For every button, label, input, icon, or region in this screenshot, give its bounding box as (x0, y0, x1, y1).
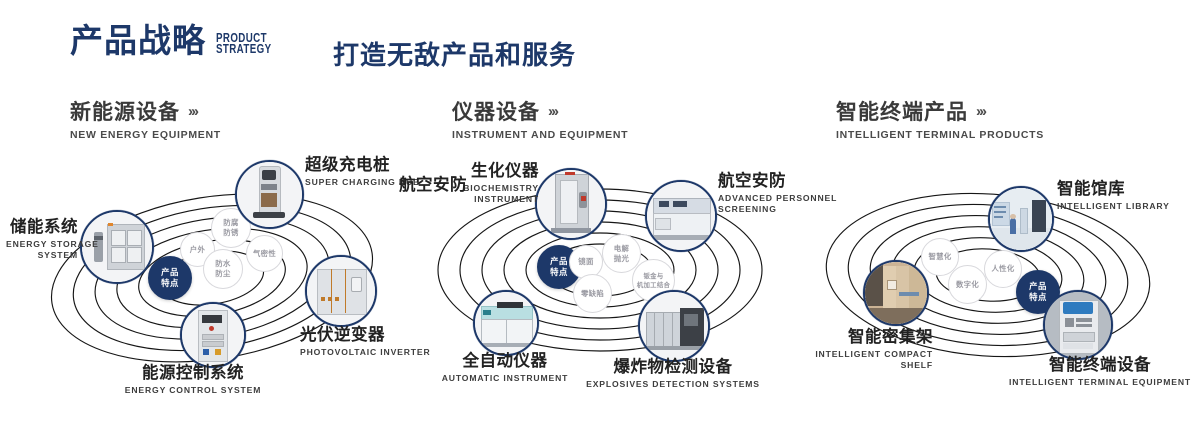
feature-bubble: 防水防尘 (203, 249, 243, 289)
node-label-cn: 航空安防 (389, 176, 467, 195)
node-label-energy-control-system: 能源控制系统 ENERGY CONTROL SYSTEM (78, 364, 308, 396)
section-title-new-energy: 新能源设备 ››› NEW ENERGY EQUIPMENT (70, 96, 221, 141)
node-label-biochemistry-instrument: 生化仪器 BIOCHEMISTRYINSTRUMENT (457, 162, 539, 204)
biochemistry-instrument-icon (537, 170, 605, 238)
inverter-cabinet-icon (307, 257, 375, 325)
page-title-en: PRODUCT STRATEGY (216, 33, 271, 55)
terminal-kiosk-icon (1045, 292, 1111, 358)
core-badge-line1: 产品 (161, 267, 179, 277)
node-intelligent-library[interactable] (988, 186, 1054, 252)
core-badge-line2: 特点 (550, 267, 568, 277)
compact-shelf-icon (865, 262, 927, 324)
node-photovoltaic-inverter[interactable] (305, 255, 377, 327)
node-automatic-instrument[interactable] (473, 290, 539, 356)
feature-label: 人性化 (991, 264, 1014, 274)
node-biochemistry-instrument[interactable] (535, 168, 607, 240)
node-label-aviation-security-left: 航空安防 (389, 176, 467, 195)
feature-label: 数字化 (956, 280, 979, 290)
section-title-cn: 智能终端产品 (836, 96, 968, 126)
node-label-cn: 储能系统 (6, 218, 78, 237)
control-cabinet-icon (182, 304, 244, 366)
node-super-charging-hub[interactable] (235, 160, 304, 229)
node-energy-control-system[interactable] (180, 302, 246, 368)
feature-bubble: 人性化 (984, 250, 1022, 288)
feature-label: 户外 (190, 245, 205, 255)
page-title-cn: 产品战略 (70, 24, 206, 57)
core-badge-line2: 特点 (161, 278, 179, 288)
feature-label: 智慧化 (928, 252, 951, 262)
page-title-en-line2: STRATEGY (216, 44, 271, 55)
node-label-cn: 智能终端设备 (1000, 356, 1200, 375)
feature-label: 镜面 (578, 257, 593, 267)
feature-label: 气密性 (253, 249, 276, 259)
node-label-en: EXPLOSIVES DETECTION SYSTEMS (575, 379, 771, 390)
node-label-en: INTELLIGENT COMPACTSHELF (755, 349, 933, 370)
feature-bubble: 零缺陷 (573, 274, 612, 313)
feature-bubble: 数字化 (948, 265, 987, 304)
section-title-cn: 仪器设备 (452, 96, 540, 126)
core-badge-line1: 产品 (550, 256, 568, 266)
page-title: 产品战略 PRODUCT STRATEGY (70, 24, 287, 57)
chevron-right-icon: ››› (548, 103, 557, 120)
section-title-en: INSTRUMENT AND EQUIPMENT (452, 129, 628, 141)
node-label-cn: 能源控制系统 (78, 364, 308, 383)
section-title-en: NEW ENERGY EQUIPMENT (70, 129, 221, 141)
section-title-en: INTELLIGENT TERMINAL PRODUCTS (836, 129, 1044, 141)
node-label-cn: 智能密集架 (755, 328, 933, 347)
node-explosives-detection-systems[interactable] (638, 290, 710, 362)
feature-label: 零缺陷 (581, 289, 604, 299)
charging-pile-icon (237, 162, 302, 227)
node-label-en: BIOCHEMISTRYINSTRUMENT (457, 183, 539, 204)
explosives-detector-icon (640, 292, 708, 360)
poster-root: 产品战略 PRODUCT STRATEGY 打造无敌产品和服务 新能源设备 ››… (0, 0, 1200, 422)
cluster-intelligent-terminal-products: 智慧化 数字化 人性化 产品 特点 智能馆 (785, 150, 1200, 400)
node-advanced-personnel-screening[interactable] (645, 180, 717, 252)
node-label-intelligent-library: 智能馆库 INTELLIGENT LIBRARY (1057, 180, 1170, 212)
node-intelligent-compact-shelf[interactable] (863, 260, 929, 326)
library-room-icon (990, 188, 1052, 250)
node-label-cn: 智能馆库 (1057, 180, 1170, 199)
node-label-cn: 生化仪器 (457, 162, 539, 181)
node-label-en: INTELLIGENT LIBRARY (1057, 201, 1170, 212)
chevron-right-icon: ››› (188, 103, 197, 120)
node-label-en: ENERGY STORAGESYSTEM (6, 239, 78, 260)
node-label-energy-storage-system: 储能系统 ENERGY STORAGESYSTEM (6, 218, 78, 260)
node-label-cn: 爆炸物检测设备 (575, 358, 771, 377)
node-intelligent-terminal-equipment[interactable] (1043, 290, 1113, 360)
section-title-cn: 新能源设备 (70, 96, 180, 126)
feature-label: 防水防尘 (215, 259, 230, 278)
page-subtitle: 打造无敌产品和服务 (333, 35, 576, 72)
core-badge-line1: 产品 (1029, 281, 1047, 291)
node-label-en: ENERGY CONTROL SYSTEM (78, 385, 308, 396)
section-title-instrument: 仪器设备 ››› INSTRUMENT AND EQUIPMENT (452, 96, 628, 141)
node-label-intelligent-compact-shelf: 智能密集架 INTELLIGENT COMPACTSHELF (755, 328, 933, 370)
feature-bubble: 气密性 (246, 235, 283, 272)
node-label-en: INTELLIGENT TERMINAL EQUIPMENT (1000, 377, 1200, 388)
section-title-intelligent: 智能终端产品 ››› INTELLIGENT TERMINAL PRODUCTS (836, 96, 1044, 141)
cluster-instrument-and-equipment: 产品 特点 镜面 电解抛光 零缺陷 钣金与机加工结合 生化仪器 BIOCHEMI… (395, 150, 815, 400)
feature-label: 电解抛光 (614, 244, 629, 263)
automatic-instrument-icon (475, 292, 537, 354)
cluster-new-energy-equipment: 产品 特点 户外 防腐防锈 防水防尘 气密性 储能系统 ENERGY STORA… (0, 150, 420, 400)
screening-machine-icon (647, 182, 715, 250)
node-label-explosives-detection-systems: 爆炸物检测设备 EXPLOSIVES DETECTION SYSTEMS (575, 358, 771, 390)
node-label-intelligent-terminal-equipment: 智能终端设备 INTELLIGENT TERMINAL EQUIPMENT (1000, 356, 1200, 388)
feature-label: 钣金与机加工结合 (637, 272, 670, 289)
chevron-right-icon: ››› (976, 103, 985, 120)
